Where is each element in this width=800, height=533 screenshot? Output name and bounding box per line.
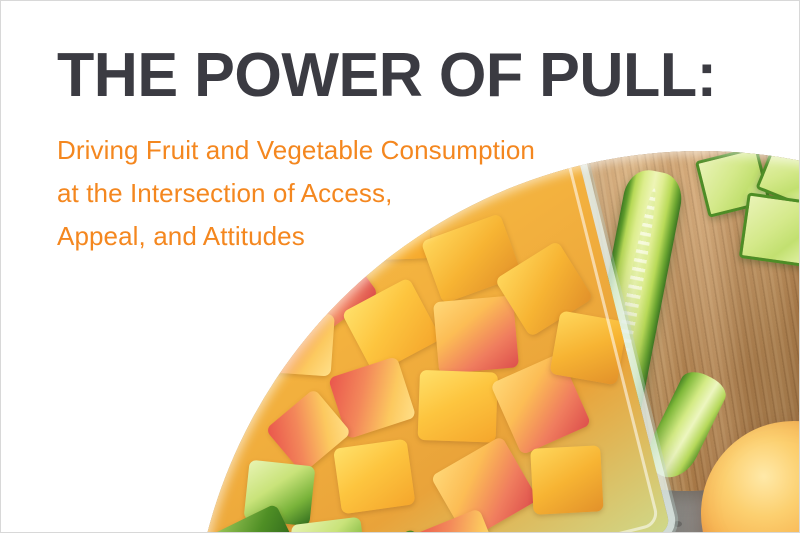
cucumber-cube: [739, 192, 800, 267]
subtitle: Driving Fruit and Vegetable Consumption …: [57, 129, 717, 258]
subtitle-line-3: Appeal, and Attitudes: [57, 215, 717, 258]
report-cover: THE POWER OF PULL: Driving Fruit and Veg…: [0, 0, 800, 533]
cover-text-block: THE POWER OF PULL: Driving Fruit and Veg…: [57, 45, 717, 258]
subtitle-line-1: Driving Fruit and Vegetable Consumption: [57, 129, 717, 172]
page-title: THE POWER OF PULL:: [57, 45, 707, 107]
subtitle-line-2: at the Intersection of Access,: [57, 172, 717, 215]
peach-crease: [787, 441, 800, 533]
